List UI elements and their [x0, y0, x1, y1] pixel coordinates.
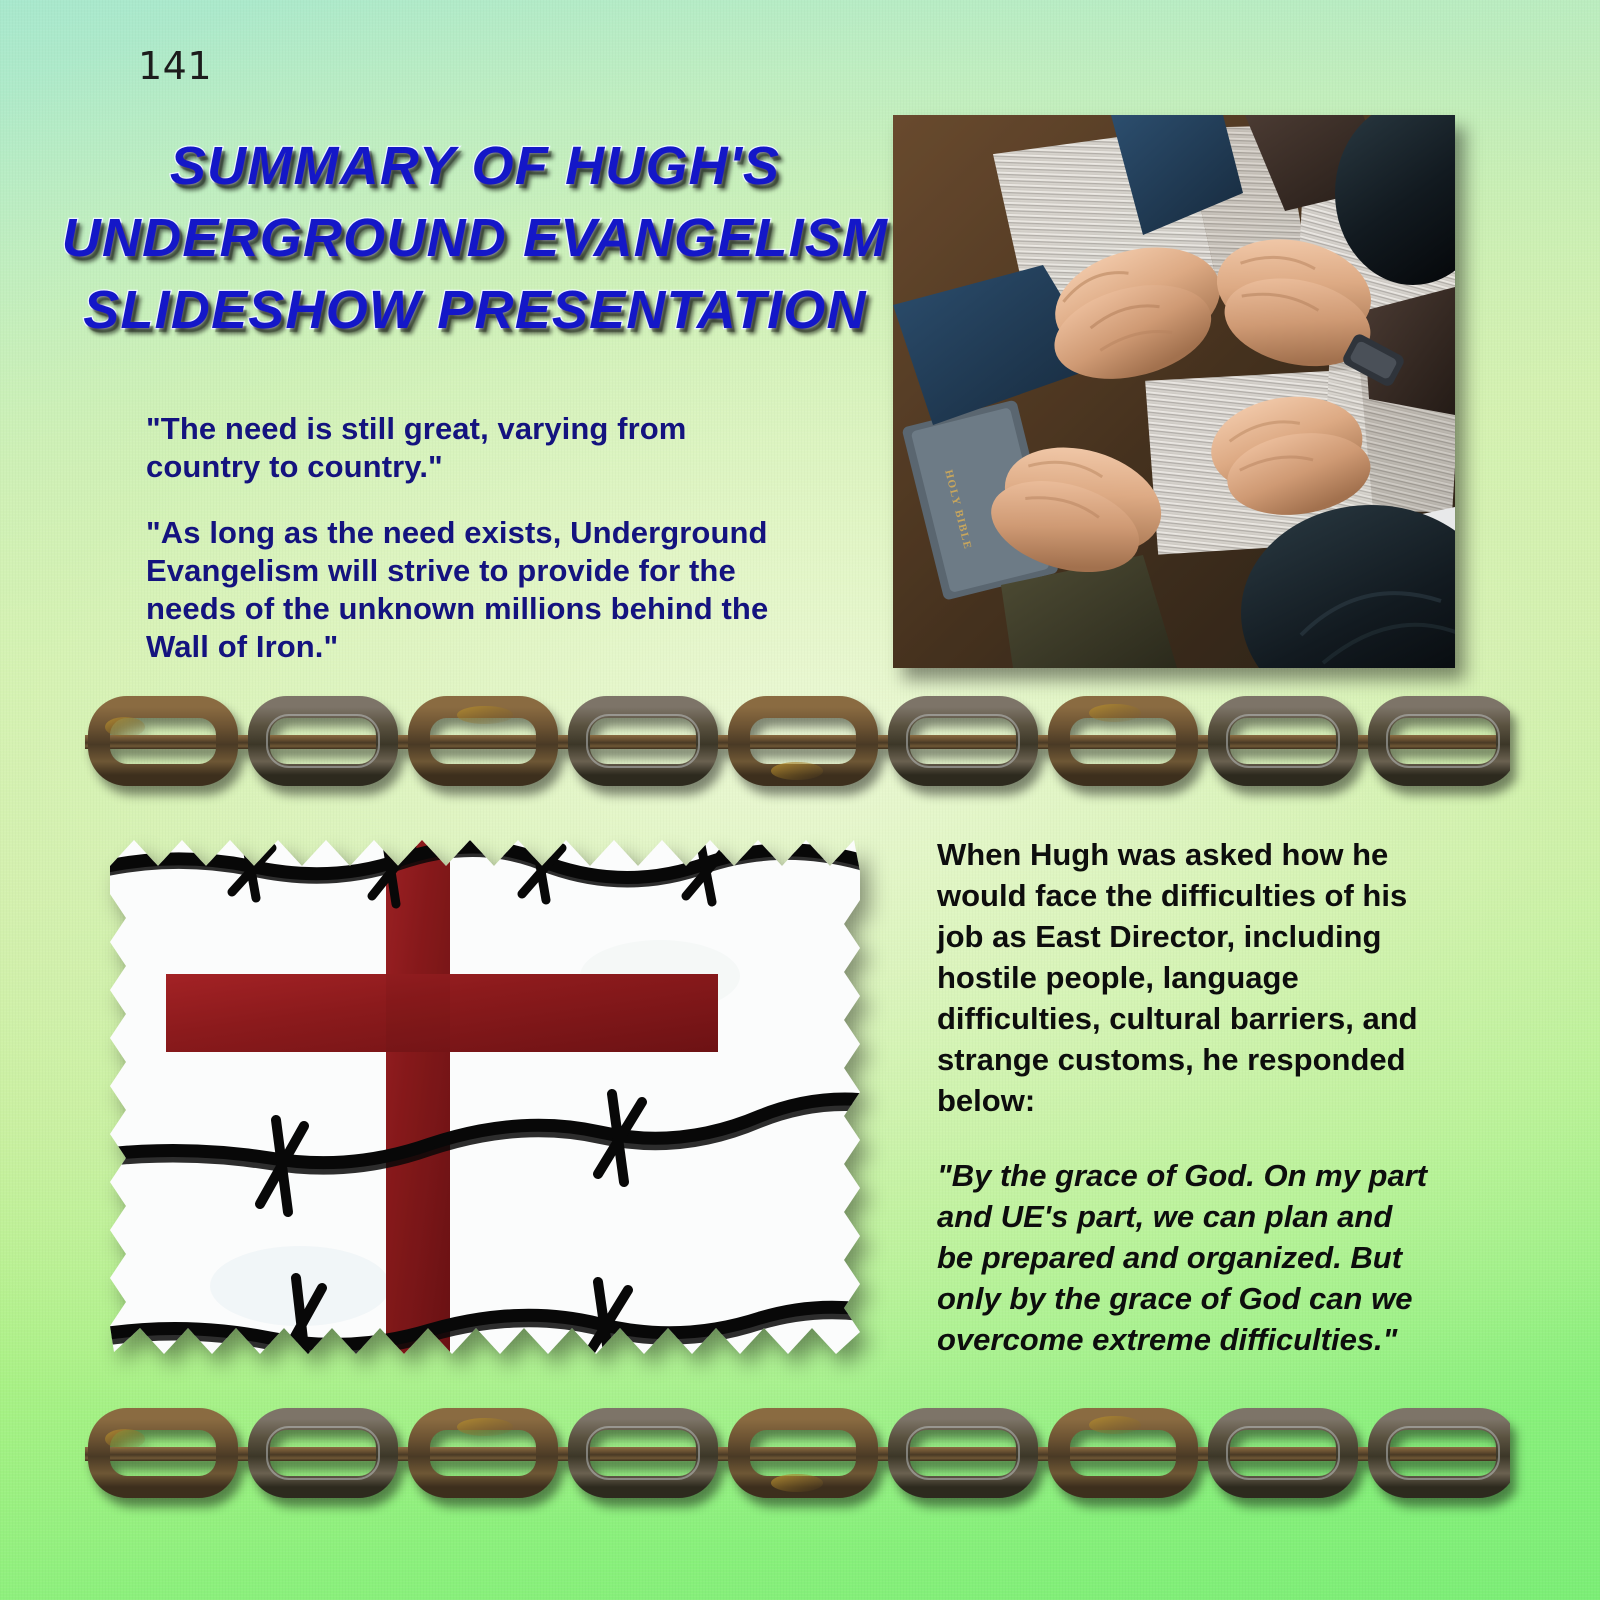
page-number: 141: [138, 44, 212, 88]
chain-divider-top: [85, 693, 1510, 794]
title-line-1-text: SUMMARY OF HUGH'S: [170, 130, 780, 202]
title-line-3-text: SLIDESHOW PRESENTATION: [83, 274, 866, 346]
chain-divider-top-graphic: [85, 693, 1510, 789]
quote-block: "The need is still great, varying from c…: [146, 410, 786, 666]
quote-paragraph-1: "The need is still great, varying from c…: [146, 410, 786, 486]
quote-paragraph-2: "As long as the need exists, Underground…: [146, 514, 786, 666]
chain-divider-bottom: [85, 1405, 1510, 1506]
cross-barbed-wire-image: [100, 826, 870, 1366]
prayer-photo-illustration: HOLY BIBLE: [893, 115, 1455, 668]
slide-canvas: 141 SUMMARY OF HUGH'S UNDERGROUND EVANGE…: [0, 0, 1600, 1600]
body-text-block: When Hugh was asked how he would face th…: [937, 834, 1437, 1360]
title-line-3: SLIDESHOW PRESENTATION: [60, 274, 890, 346]
title-line-2: UNDERGROUND EVANGELISM: [60, 202, 890, 274]
title-line-1: SUMMARY OF HUGH'S: [60, 130, 890, 202]
chain-divider-bottom-graphic: [85, 1405, 1510, 1501]
cross-barbed-wire-graphic: [100, 826, 870, 1366]
page-title: SUMMARY OF HUGH'S UNDERGROUND EVANGELISM…: [60, 130, 890, 346]
body-paragraph-2: "By the grace of God. On my part and UE'…: [937, 1155, 1437, 1360]
prayer-photo: HOLY BIBLE: [893, 115, 1455, 668]
body-paragraph-1: When Hugh was asked how he would face th…: [937, 834, 1437, 1121]
title-line-2-text: UNDERGROUND EVANGELISM: [62, 202, 888, 274]
